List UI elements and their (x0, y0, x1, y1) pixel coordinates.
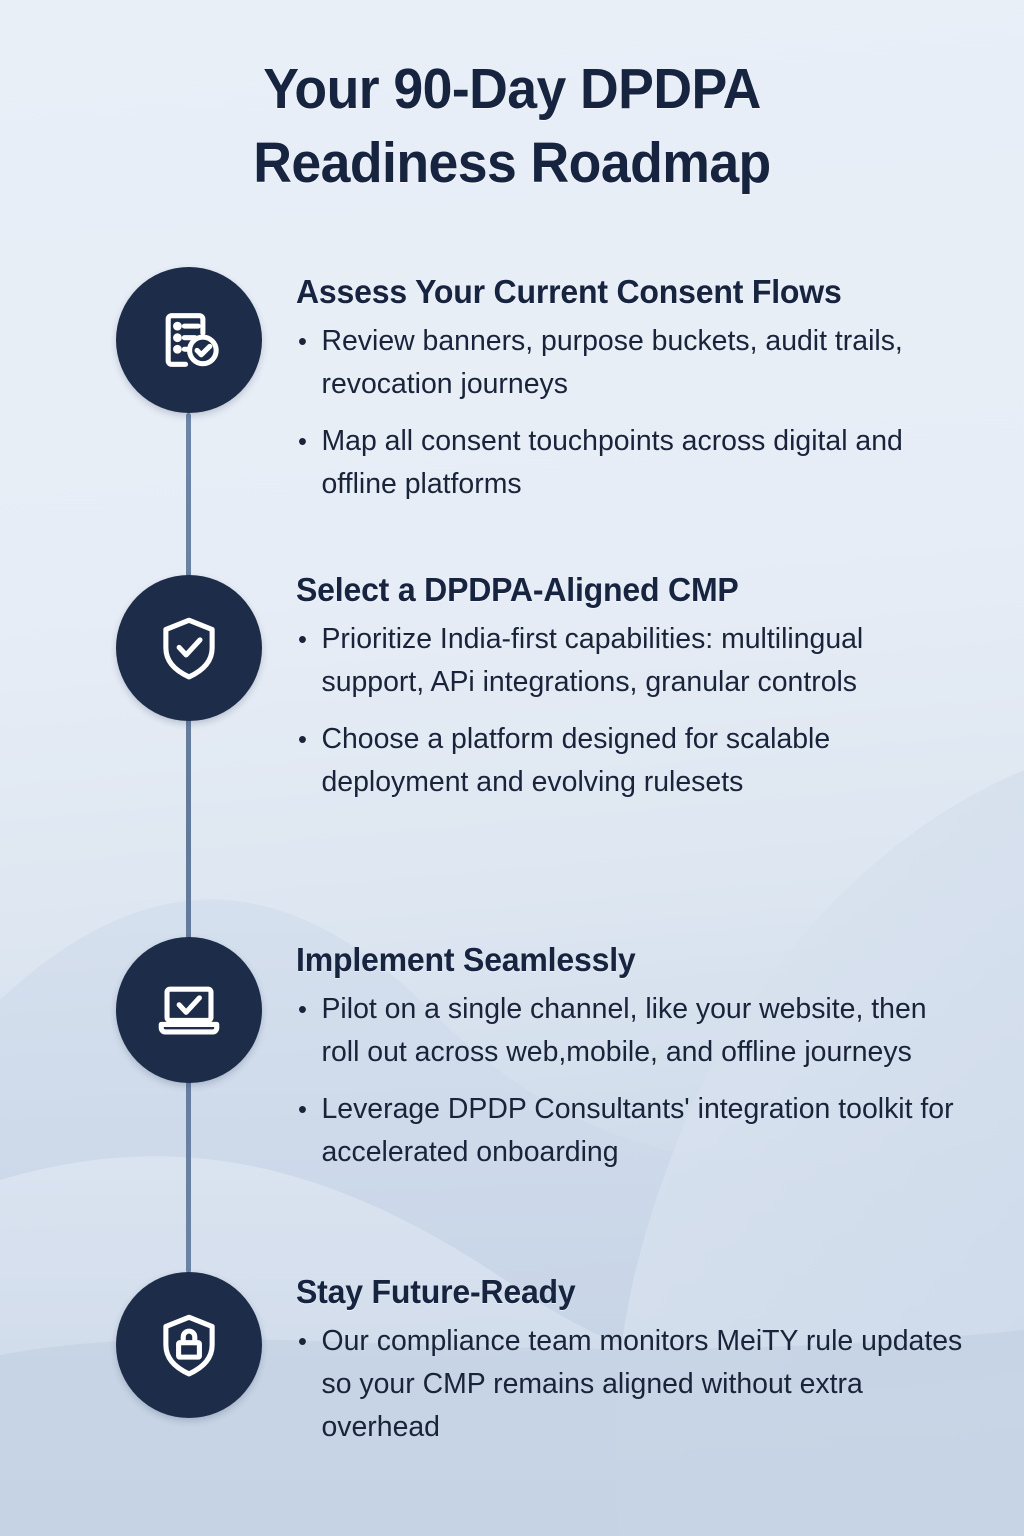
laptop-check-icon (152, 973, 226, 1047)
step-4-content: Stay Future-Ready Our compliance team mo… (296, 1272, 986, 1449)
step-3-bullet-list: Pilot on a single channel, like your web… (296, 988, 986, 1174)
step-2-icon-badge (116, 575, 262, 721)
step-2-bullet-1: Prioritize India-first capabilities: mul… (296, 618, 972, 704)
page-title-line-2: Readiness Roadmap (31, 126, 994, 200)
step-1-heading: Assess Your Current Consent Flows (296, 272, 965, 312)
step-3-content: Implement Seamlessly Pilot on a single c… (296, 940, 986, 1174)
step-4-bullet-list: Our compliance team monitors MeiTY rule … (296, 1320, 986, 1449)
step-3-icon-badge (116, 937, 262, 1083)
shield-check-icon (152, 611, 226, 685)
step-1-content: Assess Your Current Consent Flows Review… (296, 272, 986, 506)
step-2-content: Select a DPDPA-Aligned CMP Prioritize In… (296, 570, 986, 804)
step-3-bullet-1: Pilot on a single channel, like your web… (296, 988, 972, 1074)
step-1-bullet-1: Review banners, purpose buckets, audit t… (296, 320, 972, 406)
step-3-bullet-2: Leverage DPDP Consultants' integration t… (296, 1088, 972, 1174)
step-1-bullet-list: Review banners, purpose buckets, audit t… (296, 320, 986, 506)
step-4-icon-badge (116, 1272, 262, 1418)
page-title-line-1: Your 90-Day DPDPA (31, 52, 994, 126)
step-1-icon-badge (116, 267, 262, 413)
step-4-heading: Stay Future-Ready (296, 1272, 965, 1312)
page-title: Your 90-Day DPDPA Readiness Roadmap (0, 52, 1024, 200)
checklist-verified-icon (152, 303, 226, 377)
step-2-heading: Select a DPDPA-Aligned CMP (296, 570, 965, 610)
shield-lock-icon (152, 1308, 226, 1382)
step-4-bullet-1: Our compliance team monitors MeiTY rule … (296, 1320, 972, 1449)
step-2-bullet-list: Prioritize India-first capabilities: mul… (296, 618, 986, 804)
timeline-connector-line (186, 413, 191, 1273)
step-3-heading: Implement Seamlessly (296, 940, 965, 980)
infographic-poster: Your 90-Day DPDPA Readiness Roadmap (0, 0, 1024, 1536)
step-1-bullet-2: Map all consent touchpoints across digit… (296, 420, 972, 506)
step-2-bullet-2: Choose a platform designed for scalable … (296, 718, 972, 804)
